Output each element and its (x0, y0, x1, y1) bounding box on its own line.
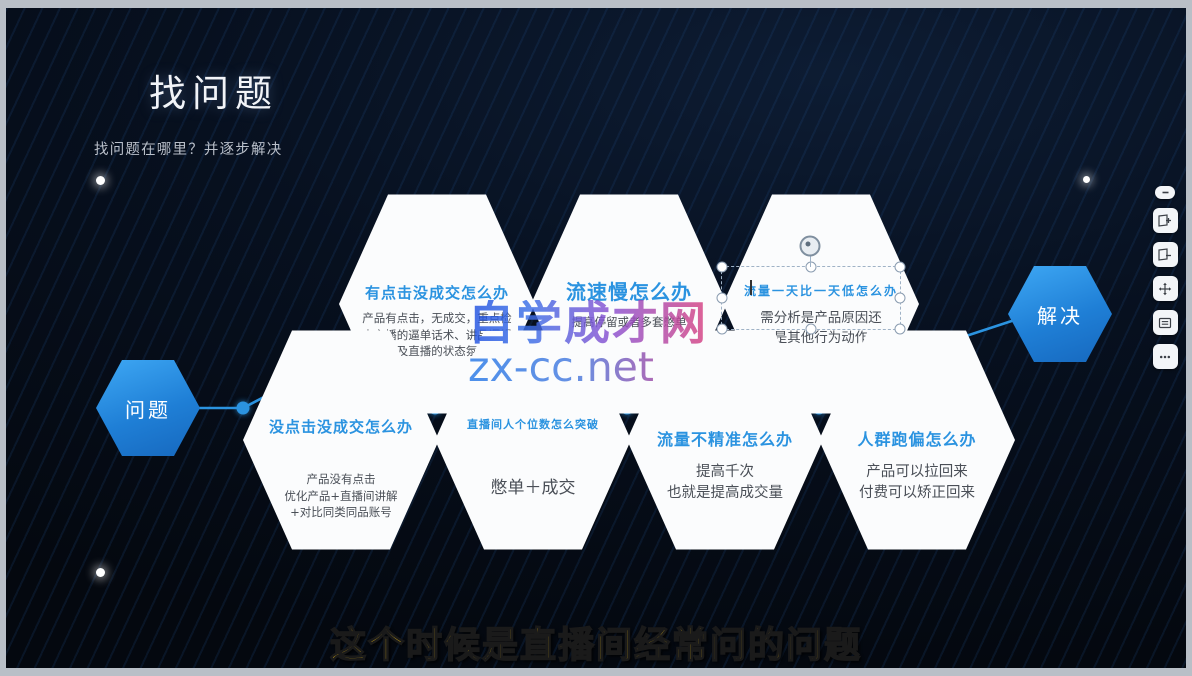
hex-body: 产品没有点击 优化产品+直播间讲解 +对比同类同品账号 (256, 471, 426, 521)
hex-end-label: 解决 (1037, 300, 1083, 329)
hex-end-solution[interactable]: 解决 (1008, 264, 1112, 364)
add-page-icon[interactable] (1153, 208, 1178, 233)
textbox-selection-box[interactable] (721, 266, 901, 330)
hex-title: 没点击没成交怎么办 (269, 416, 413, 437)
screenshot-stage: 找问题 找问题在哪里？并逐步解决 问题 解决 有点击没成交怎么办 (0, 0, 1192, 676)
hex-title: 流速慢怎么办 (566, 276, 692, 305)
hex-start-problem[interactable]: 问题 (96, 358, 200, 458)
note-icon[interactable] (1153, 310, 1178, 335)
resize-handle-n[interactable] (806, 262, 817, 273)
hex-title: 人群跑偏怎么办 (857, 426, 976, 450)
connector-node (237, 402, 250, 415)
collapse-icon[interactable] (1155, 186, 1175, 199)
hex-body: 产品可以拉回来 付费可以矫正回来 (832, 462, 1002, 504)
rotate-handle-icon[interactable] (800, 236, 821, 257)
hex-body: 提高千次 也就是提高成交量 (640, 462, 810, 504)
resize-handle-e[interactable] (895, 293, 906, 304)
presentation-slide[interactable]: 找问题 找问题在哪里？并逐步解决 问题 解决 有点击没成交怎么办 (6, 8, 1186, 668)
hex-title: 直播间人个位数怎么突破 (467, 416, 599, 432)
text-caret (750, 280, 752, 295)
hex-title: 有点击没成交怎么办 (365, 282, 509, 303)
resize-handle-se[interactable] (895, 324, 906, 335)
video-caption: 这个时候是直播间经常问的问题 (6, 616, 1186, 668)
hex-title: 流量不精准怎么办 (657, 426, 793, 450)
hex-body: 提高停留或者多套憋单 (544, 314, 714, 331)
move-icon[interactable] (1153, 276, 1178, 301)
hex-body: 憋单＋成交 (448, 476, 618, 501)
hexagon-flow-diagram: 问题 解决 有点击没成交怎么办 产品有点击，无成交，重点检 查主播的逼单话术、讲… (6, 158, 1186, 588)
resize-handle-w[interactable] (717, 293, 728, 304)
page-subtitle: 找问题在哪里？并逐步解决 (94, 138, 282, 159)
hex-start-label: 问题 (125, 394, 171, 423)
remove-page-icon[interactable] (1153, 242, 1178, 267)
resize-handle-ne[interactable] (895, 262, 906, 273)
resize-handle-nw[interactable] (717, 262, 728, 273)
resize-handle-s[interactable] (806, 324, 817, 335)
side-toolbar[interactable] (1152, 186, 1178, 369)
resize-handle-sw[interactable] (717, 324, 728, 335)
page-title: 找问题 (149, 63, 278, 117)
more-icon[interactable] (1153, 344, 1178, 369)
